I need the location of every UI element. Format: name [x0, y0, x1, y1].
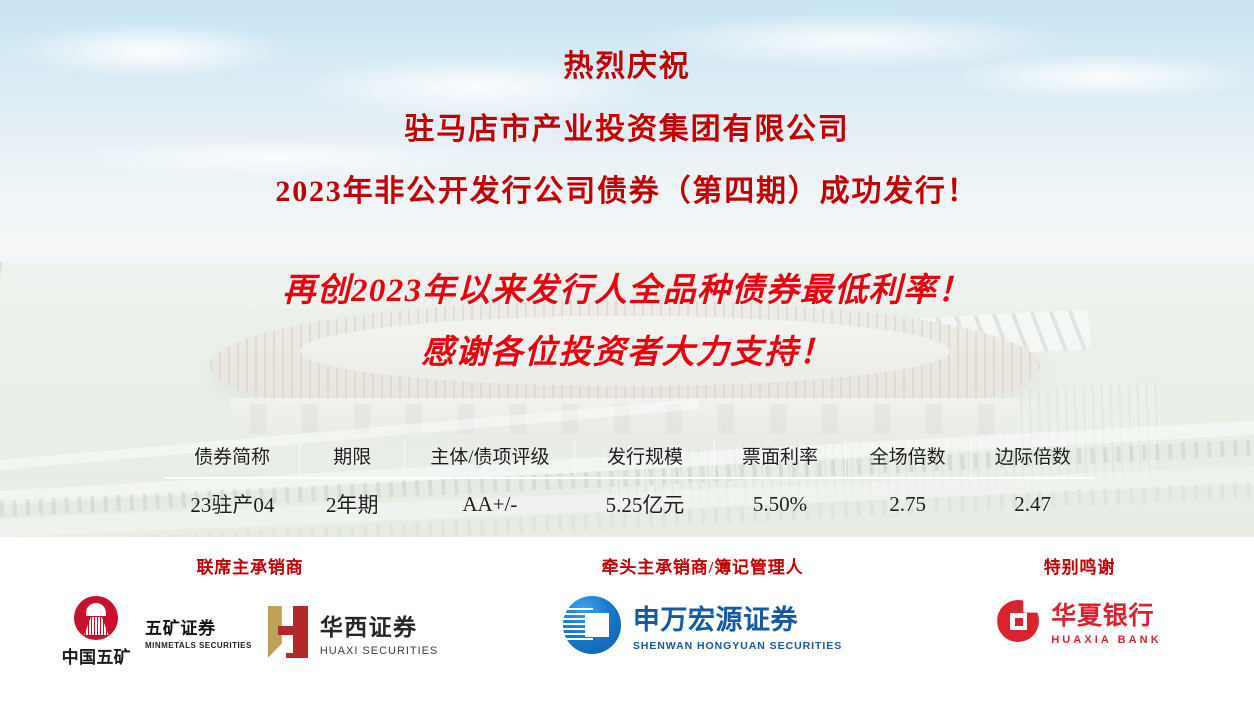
- logo-shenwan-hongyuan-securities: 申万宏源证券 SHENWAN HONGYUAN SECURITIES: [563, 596, 842, 654]
- shenwan-wordmark: 申万宏源证券 SHENWAN HONGYUAN SECURITIES: [633, 598, 842, 652]
- column-header-bond-name: 债券简称: [165, 440, 300, 478]
- minmetals-securities-cn: 五矿证券: [145, 614, 216, 639]
- huaxia-bank-cn: 华夏银行: [1051, 596, 1154, 632]
- logo-huaxia-bank: 华夏银行 HUAXIA BANK: [997, 596, 1161, 646]
- logo-row-joint-underwriters: 中国五矿 五矿证券 MINMETALS SECURITIES: [62, 596, 439, 668]
- cell-marginal-cover: 2.47: [970, 478, 1095, 521]
- minmetals-emblem-group: 中国五矿: [62, 596, 131, 668]
- logo-row-special-thanks: 华夏银行 HUAXIA BANK: [997, 596, 1161, 646]
- huaxia-wordmark: 华夏银行 HUAXIA BANK: [1051, 596, 1161, 646]
- footer-group-lead-underwriter: 牵头主承销商/簿记管理人 申万宏源证券 SHENWAN HONGYUAN SEC…: [500, 537, 905, 705]
- minmetals-securities-en: MINMETALS SECURITIES: [145, 641, 252, 650]
- headline-issuer-name: 驻马店市产业投资集团有限公司: [0, 113, 1254, 148]
- cell-bond-name: 23驻产04: [165, 478, 300, 521]
- huaxi-wordmark: 华西证券 HUAXI SECURITIES: [320, 608, 439, 657]
- minmetals-securities-wordmark: 五矿证券 MINMETALS SECURITIES: [145, 614, 252, 650]
- shenwan-hongyuan-cn: 申万宏源证券: [633, 598, 798, 637]
- huaxia-bank-en: HUAXIA BANK: [1051, 634, 1161, 646]
- slogan-lowest-rate: 再创2023年以来发行人全品种债券最低利率！: [0, 272, 1254, 312]
- column-header-bid-cover: 全场倍数: [845, 440, 970, 478]
- column-header-term: 期限: [300, 440, 405, 478]
- headline-bond-issue: 2023年非公开发行公司债券（第四期）成功发行！: [0, 175, 1254, 210]
- column-header-rating: 主体/债项评级: [405, 440, 575, 478]
- cell-bid-cover: 2.75: [845, 478, 970, 521]
- headline-block: 热烈庆祝 驻马店市产业投资集团有限公司 2023年非公开发行公司债券（第四期）成…: [0, 50, 1254, 210]
- footer-bar: 联席主承销商 中国五矿 五矿证券 MINMETALS SECURITIES: [0, 537, 1254, 705]
- cell-term: 2年期: [300, 478, 405, 521]
- shenwan-circle-icon: [563, 596, 621, 654]
- logo-huaxi-securities: 华西证券 HUAXI SECURITIES: [268, 606, 439, 658]
- column-header-coupon-rate: 票面利率: [715, 440, 845, 478]
- table-header-row: 债券简称 期限 主体/债项评级 发行规模 票面利率 全场倍数 边际倍数: [165, 440, 1095, 478]
- huaxi-securities-cn: 华西证券: [320, 608, 418, 642]
- column-header-marginal-cover: 边际倍数: [970, 440, 1095, 478]
- cell-issue-size: 5.25亿元: [575, 478, 715, 521]
- bond-summary-table: 债券简称 期限 主体/债项评级 发行规模 票面利率 全场倍数 边际倍数 23驻产…: [165, 440, 1095, 521]
- cell-coupon-rate: 5.50%: [715, 478, 845, 521]
- slogan-block: 再创2023年以来发行人全品种债券最低利率！ 感谢各位投资者大力支持！: [0, 272, 1254, 373]
- minmetals-group-name: 中国五矿: [62, 643, 131, 668]
- logo-row-lead-underwriter: 申万宏源证券 SHENWAN HONGYUAN SECURITIES: [563, 596, 842, 654]
- footer-group-special-thanks: 特别鸣谢 华夏银行 HUAXIA BANK: [905, 537, 1254, 705]
- footer-group-joint-underwriters: 联席主承销商 中国五矿 五矿证券 MINMETALS SECURITIES: [0, 537, 500, 705]
- footer-label-special-thanks: 特别鸣谢: [1044, 553, 1115, 578]
- huaxi-h-monogram-icon: [268, 606, 308, 658]
- footer-label-lead-underwriter: 牵头主承销商/簿记管理人: [602, 553, 804, 578]
- shenwan-hongyuan-en: SHENWAN HONGYUAN SECURITIES: [633, 640, 842, 652]
- logo-china-minmetals: 中国五矿 五矿证券 MINMETALS SECURITIES: [62, 596, 252, 668]
- celebration-poster: 热烈庆祝 驻马店市产业投资集团有限公司 2023年非公开发行公司债券（第四期）成…: [0, 0, 1254, 705]
- huaxi-securities-en: HUAXI SECURITIES: [320, 645, 439, 657]
- slogan-thanks-investors: 感谢各位投资者大力支持！: [0, 334, 1254, 374]
- minmetals-emblem-icon: [74, 596, 118, 640]
- cell-rating: AA+/-: [405, 478, 575, 521]
- column-header-issue-size: 发行规模: [575, 440, 715, 478]
- headline-congratulation: 热烈庆祝: [0, 50, 1254, 85]
- footer-label-joint-underwriters: 联席主承销商: [196, 553, 303, 578]
- huaxia-bank-c-icon: [997, 600, 1039, 642]
- table-row: 23驻产04 2年期 AA+/- 5.25亿元 5.50% 2.75 2.47: [165, 478, 1095, 521]
